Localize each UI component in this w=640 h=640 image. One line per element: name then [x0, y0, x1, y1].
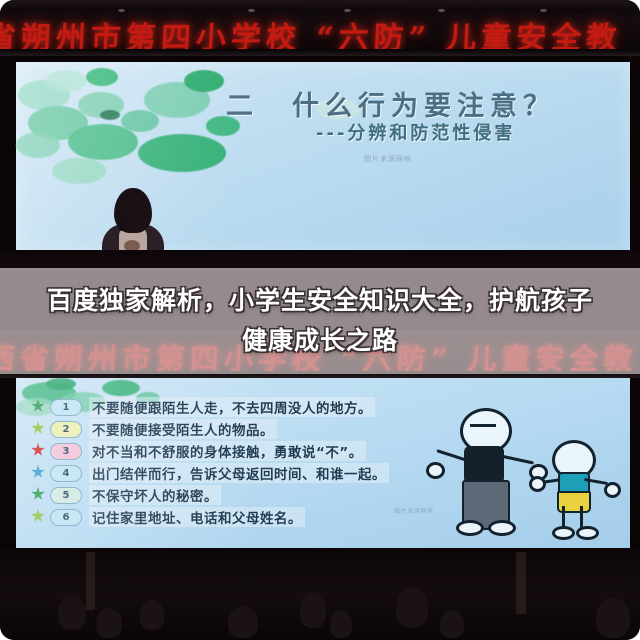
- caption-text: 百度独家解析，小学生安全知识大全，护航孩子健康成长之路: [40, 281, 600, 361]
- safety-tip-row: 5不保守坏人的秘密。: [28, 484, 458, 506]
- star-icon: [31, 399, 45, 413]
- star-bullet-icon: [28, 420, 50, 438]
- stick-figure-illustration: [426, 392, 616, 540]
- child-right-foot: [576, 526, 599, 540]
- tip-text: 不要随便接受陌生人的物品。: [89, 419, 277, 439]
- star-icon: [31, 509, 45, 523]
- safety-tip-row: 4出门结伴而行，告诉父母返回时间、和谁一起。: [28, 462, 458, 484]
- adult-left-arm: [436, 449, 467, 462]
- slide-subtitle: ---分辨和防范性侵害: [316, 119, 515, 145]
- safety-tip-row: 3对不当和不舒服的身体接触，勇敢说“不”。: [28, 440, 458, 462]
- star-icon: [31, 421, 45, 435]
- decor-blob: [121, 110, 159, 132]
- decor-blob: [138, 134, 226, 172]
- safety-tip-row: 2不要随便接受陌生人的物品。: [28, 418, 458, 440]
- led-dot: [248, 9, 255, 12]
- tip-number-badge: 6: [50, 509, 82, 526]
- caption-overlay-band: 百度独家解析，小学生安全知识大全，护航孩子健康成长之路: [0, 268, 640, 374]
- star-bullet-icon: [28, 464, 50, 482]
- tip-number-badge: 2: [50, 421, 82, 438]
- tip-number-badge: 4: [50, 465, 82, 482]
- star-bullet-icon: [28, 442, 50, 460]
- projection-screen-lower: 1不要随便跟陌生人走，不去四周没人的地方。2不要随便接受陌生人的物品。3对不当和…: [16, 378, 630, 550]
- decor-blob: [100, 110, 120, 120]
- audience-silhouette: [596, 598, 630, 638]
- tip-text: 不保守坏人的秘密。: [89, 485, 221, 505]
- tip-text: 不要随便跟陌生人走，不去四周没人的地方。: [89, 397, 375, 417]
- audience-silhouette: [140, 600, 164, 630]
- tip-text: 记住家里地址、电话和父母姓名。: [89, 507, 305, 527]
- child-right-hand: [604, 482, 621, 498]
- seat-post: [86, 552, 95, 610]
- adult-torso: [464, 446, 504, 484]
- led-banner-top: 省朔州市第四小学校 “六防” 儿童安全教: [0, 0, 640, 56]
- slide-title: 二 什么行为要注意？: [226, 84, 556, 123]
- adult-glasses: [470, 424, 496, 427]
- decor-blob: [46, 70, 86, 92]
- star-bullet-icon: [28, 398, 50, 416]
- audience-silhouette: [396, 588, 428, 628]
- child-left-hand: [529, 476, 546, 492]
- tip-number-badge: 3: [50, 443, 82, 460]
- adult-left-foot: [456, 520, 484, 536]
- decor-blob: [184, 70, 224, 92]
- star-bullet-icon: [28, 508, 50, 526]
- tip-number-badge: 1: [50, 399, 82, 416]
- decor-blob: [52, 158, 106, 184]
- led-dot: [118, 9, 125, 12]
- decor-blob: [16, 132, 60, 158]
- tip-number-badge: 5: [50, 487, 82, 504]
- decor-blob: [86, 68, 118, 86]
- tip-text: 出门结伴而行，告诉父母返回时间、和谁一起。: [89, 463, 389, 483]
- led-dot: [344, 9, 351, 12]
- seat-post: [516, 552, 526, 614]
- audience-silhouette: [330, 610, 352, 638]
- tip-text: 对不当和不舒服的身体接触，勇敢说“不”。: [89, 441, 366, 461]
- audience-area: [0, 548, 640, 640]
- audience-silhouette: [96, 608, 122, 638]
- star-bullet-icon: [28, 486, 50, 504]
- child-left-foot: [552, 526, 575, 540]
- safety-tip-row: 1不要随便跟陌生人走，不去四周没人的地方。: [28, 396, 458, 418]
- led-dot: [438, 9, 445, 12]
- audience-silhouette: [300, 592, 326, 628]
- audience-silhouette: [58, 596, 86, 630]
- led-dot: [540, 9, 547, 12]
- audience-silhouette: [228, 606, 258, 638]
- photo-card: 省朔州市第四小学校 “六防” 儿童安全教 二 什么行为要注意？ ---分辨和防范…: [0, 0, 640, 640]
- adult-left-hand: [426, 462, 445, 479]
- star-icon: [31, 443, 45, 457]
- slide-credit: 图片来源网络: [364, 154, 412, 164]
- decor-blob: [46, 378, 76, 390]
- adult-right-foot: [488, 520, 516, 536]
- adult-right-arm: [500, 454, 534, 464]
- star-icon: [31, 487, 45, 501]
- led-underlip: [0, 49, 640, 56]
- audience-silhouette: [440, 610, 464, 638]
- decor-blob: [102, 380, 140, 396]
- star-icon: [31, 465, 45, 479]
